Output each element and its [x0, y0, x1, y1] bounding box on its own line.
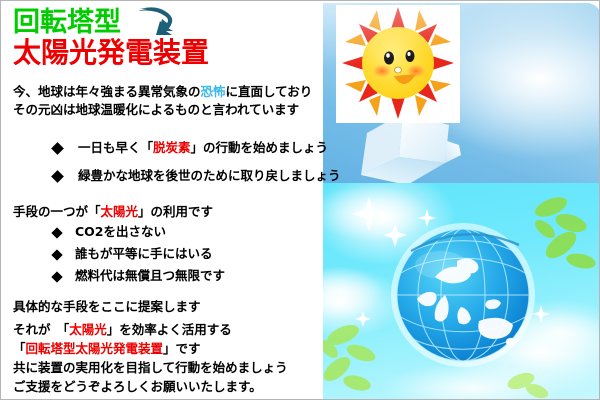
means-item-free-fuel: 燃料代は無償且つ無限です — [53, 267, 225, 285]
means-item-equal-access: 誰もが平等に手にはいる — [53, 245, 213, 263]
closing-line-5: ご支援をどうぞよろしくお願いいたします。 — [13, 378, 262, 396]
page-title-red: 太陽光発電装置 — [13, 37, 209, 69]
means-emphasis-solar: 太陽光 — [101, 204, 139, 219]
diamond-bullet-icon — [51, 249, 62, 260]
earth-globe-panel — [323, 183, 600, 400]
text-column: 回転塔型 太陽光発電装置 今、地球は年々強まる異常気象の恐怖に直面しており その… — [1, 1, 323, 400]
page-title-green: 回転塔型 — [13, 8, 121, 38]
means-item-text: 燃料代は無償且つ無限です — [75, 268, 225, 283]
closing-line-2a: それが 「 — [13, 322, 69, 337]
closing-line-3: 「回転塔型太陽光発電装置」です — [13, 340, 201, 358]
intro-line-1c: に直面しており — [226, 84, 313, 99]
diamond-bullet-icon — [51, 142, 64, 155]
means-lead-a: 手段の一つが「 — [13, 204, 101, 219]
bullet-item-decarbonize: 一日も早く「脱炭素」の行動を始めましょう — [53, 139, 328, 157]
diamond-bullet-icon — [51, 271, 62, 282]
blue-gradient-panel — [323, 3, 600, 183]
closing-line-2b: 」を効率よく活用する — [107, 322, 232, 337]
smiling-sun-icon — [336, 5, 460, 123]
closing-line-3b: 」です — [163, 341, 201, 356]
diamond-bullet-icon — [51, 170, 64, 183]
bullet-pre: 一日も早く「 — [78, 140, 153, 155]
sun-image-card — [336, 5, 460, 123]
bullet-emphasis-decarbonize: 脱炭素 — [153, 140, 191, 155]
intro-line-1a: 今、地球は年々強まる異常気象の — [13, 84, 201, 99]
closing-emphasis-solar: 太陽光 — [69, 322, 107, 337]
earth-globe-icon — [323, 183, 600, 400]
closing-line-3a: 「 — [13, 341, 26, 356]
intro-line-2: その元凶は地球温暖化によるものと言われています — [13, 101, 299, 119]
slide-canvas: 回転塔型 太陽光発電装置 今、地球は年々強まる異常気象の恐怖に直面しており その… — [0, 0, 600, 400]
diamond-bullet-icon — [51, 227, 62, 238]
bullet-item-green-earth: 緑豊かな地球を後世のために取り戻しましょう — [53, 167, 341, 185]
means-item-text: 誰もが平等に手にはいる — [75, 246, 213, 261]
closing-line-2: それが 「太陽光」を効率よく活用する — [13, 321, 232, 339]
closing-line-4: 共に装置の実用化を目指して行動を始めましょう — [13, 359, 288, 377]
artwork-column — [323, 1, 600, 400]
rotation-arrow-icon — [132, 5, 176, 39]
closing-emphasis-product: 回転塔型太陽光発電装置 — [26, 341, 164, 356]
means-lead-b: 」の利用です — [138, 204, 213, 219]
intro-emphasis-fear: 恐怖 — [201, 84, 226, 99]
intro-line-1: 今、地球は年々強まる異常気象の恐怖に直面しており — [13, 83, 312, 101]
bullet-text: 緑豊かな地球を後世のために取り戻しましょう — [78, 168, 341, 183]
means-item-co2: CO2を出さない — [53, 223, 166, 241]
closing-line-1: 具体的な手段をここに提案します — [13, 298, 201, 316]
means-item-text: CO2を出さない — [75, 224, 166, 239]
means-lead-line: 手段の一つが「太陽光」の利用です — [13, 203, 213, 221]
bullet-post: 」の行動を始めましょう — [191, 140, 329, 155]
